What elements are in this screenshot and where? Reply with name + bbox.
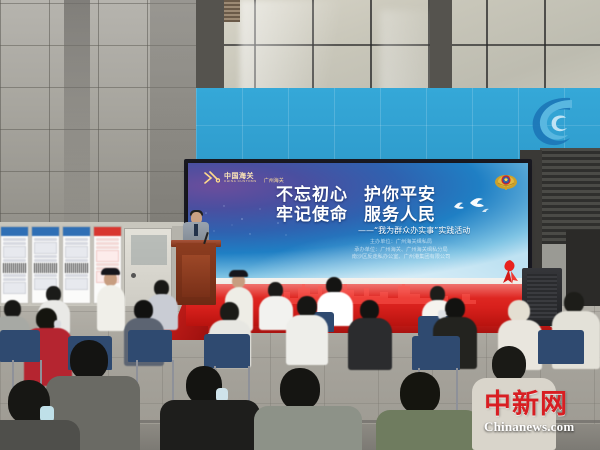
china-customs-logo: 中国海关 CHINA CUSTOMS 广州海关 bbox=[204, 171, 284, 185]
folding-chair bbox=[538, 330, 584, 364]
speaking-podium bbox=[176, 243, 216, 305]
chair-leg bbox=[456, 368, 458, 412]
wall-dark-column bbox=[64, 0, 90, 256]
guard-cap bbox=[101, 268, 120, 275]
slogan-l2-right: 服务人民 bbox=[364, 205, 436, 225]
door-window bbox=[131, 235, 167, 265]
organizer-line: 主办单位：广州海关缉私局 bbox=[286, 239, 516, 247]
door-handle bbox=[131, 273, 136, 278]
poster-board bbox=[62, 226, 91, 304]
slogan-line-2: 牢记使命服务人民 bbox=[276, 205, 436, 225]
speaker-tie bbox=[194, 224, 198, 236]
chair-leg bbox=[172, 360, 174, 402]
window-pier-right bbox=[430, 0, 452, 96]
face-mask-icon bbox=[54, 320, 61, 328]
watermark-cn: 中新网 bbox=[484, 391, 592, 418]
news-photo-scene: 中国海关 CHINA CUSTOMS 广州海关 不忘初心护你平安 牢记使命服务人… bbox=[0, 0, 600, 450]
red-ribbon-flower-icon bbox=[498, 258, 522, 292]
customs-logo-branch: 广州海关 bbox=[264, 177, 284, 185]
folding-chair bbox=[204, 334, 250, 368]
china-customs-emblem bbox=[494, 170, 518, 194]
podium-front-panel bbox=[182, 255, 210, 297]
event-banner-screen: 中国海关 CHINA CUSTOMS 广州海关 不忘初心护你平安 牢记使命服务人… bbox=[188, 163, 528, 278]
slogan-l2-left: 牢记使命 bbox=[276, 205, 348, 225]
poster-header bbox=[1, 227, 28, 236]
banner-subtitle: ——“我为群众办实事”实践活动 bbox=[358, 225, 470, 236]
guard-cap bbox=[229, 270, 248, 277]
poster-header bbox=[63, 227, 90, 236]
banner-organizers: 主办单位：广州海关缉私局 承办单位：广州海关、广州海关缉私分局 南沙区反走私办公… bbox=[286, 239, 516, 262]
organizer-line: 承办单位：广州海关、广州海关缉私分局 bbox=[286, 247, 516, 255]
poster-board bbox=[0, 226, 29, 304]
slogan-line-1: 不忘初心护你平安 bbox=[276, 185, 436, 205]
flying-doves-icon bbox=[448, 195, 494, 217]
slogan-l1-right: 护你平安 bbox=[364, 185, 436, 205]
folding-chair bbox=[0, 330, 40, 362]
banner-slogan: 不忘初心护你平安 牢记使命服务人民 bbox=[276, 185, 436, 225]
poster-header bbox=[94, 227, 121, 236]
watermark-en: Chinanews.com bbox=[484, 419, 592, 435]
poster-header bbox=[32, 227, 59, 236]
customs-logo-en: CHINA CUSTOMS bbox=[224, 180, 257, 183]
folding-chair bbox=[128, 330, 172, 362]
slogan-l1-left: 不忘初心 bbox=[276, 185, 348, 205]
organizer-line: 南沙区反走私办公室、广州港集团有限公司 bbox=[286, 254, 516, 262]
customs-caduceus-key-icon bbox=[204, 171, 220, 185]
folding-chair bbox=[412, 336, 460, 370]
news-watermark: 中新网 Chinanews.com bbox=[484, 391, 592, 441]
